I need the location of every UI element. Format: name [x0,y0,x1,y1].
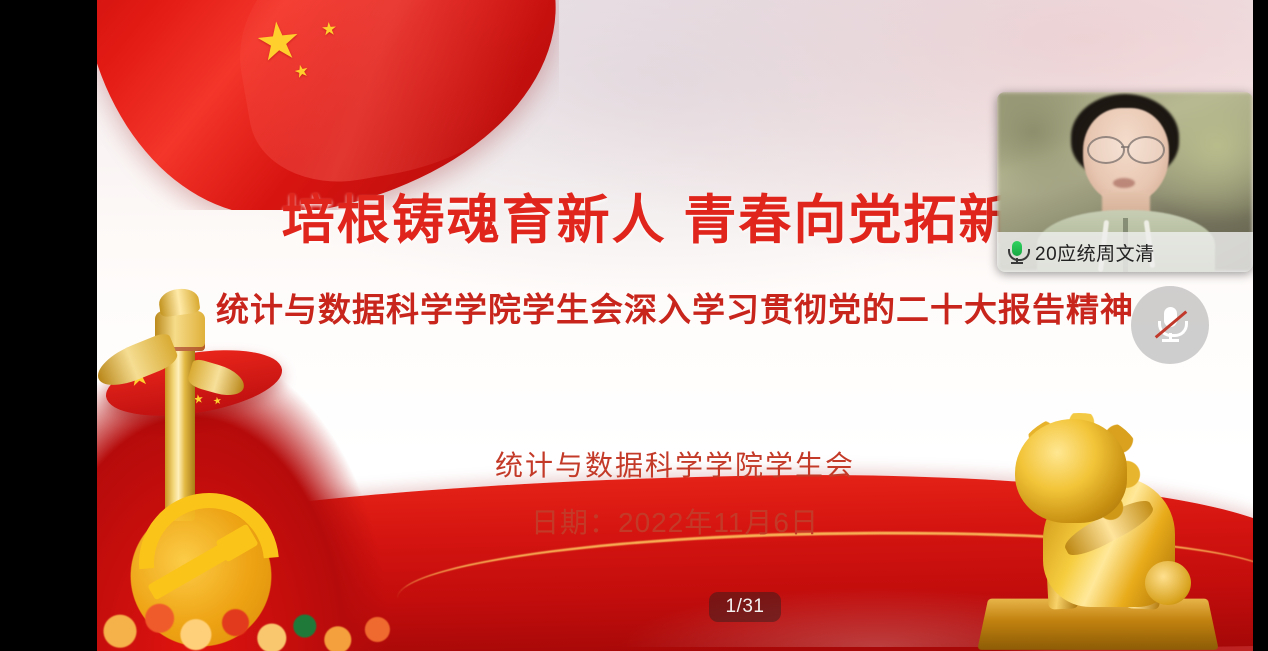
letterbox-left [0,0,97,651]
slide-subtitle: 统计与数据科学学院学生会深入学习贯彻党的二十大报告精神 [97,283,1253,331]
slide-date: 日期：2022年11月6日 [97,501,1253,541]
letterbox-right [1253,0,1268,651]
participant-name-bar: 20应统周文清 [997,232,1253,272]
slide-organization: 统计与数据科学学院学生会 [97,444,1253,484]
microphone-on-icon [1006,240,1028,264]
participant-video-tile[interactable]: 20应统周文清 [997,92,1253,272]
screen: ★ ★ ★ ★ ★ ★ ★ ★ ★ [0,0,1268,651]
microphone-muted-icon [1155,305,1185,345]
participant-name: 20应统周文清 [1035,239,1155,266]
page-indicator: 1/31 [709,592,781,622]
mute-toggle-button[interactable] [1131,286,1209,364]
